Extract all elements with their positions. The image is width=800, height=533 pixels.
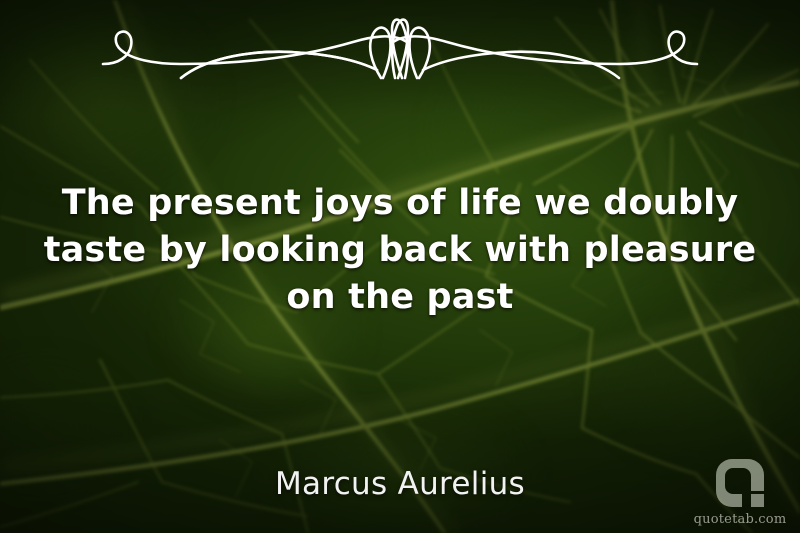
quote-author: Marcus Aurelius — [0, 466, 800, 502]
decorative-flourish-divider-icon — [95, 12, 705, 84]
quotetab-logo-icon[interactable] — [712, 455, 768, 511]
watermark[interactable]: quotetab.com — [692, 455, 788, 527]
watermark-site-label[interactable]: quotetab.com — [694, 512, 787, 527]
quote-card: The present joys of life we doubly taste… — [0, 0, 800, 533]
quote-line-3: on the past — [30, 274, 770, 321]
quote-text: The present joys of life we doubly taste… — [30, 180, 770, 321]
quote-line-1: The present joys of life we doubly — [30, 180, 770, 227]
quote-line-2: taste by looking back with pleasure — [30, 227, 770, 274]
